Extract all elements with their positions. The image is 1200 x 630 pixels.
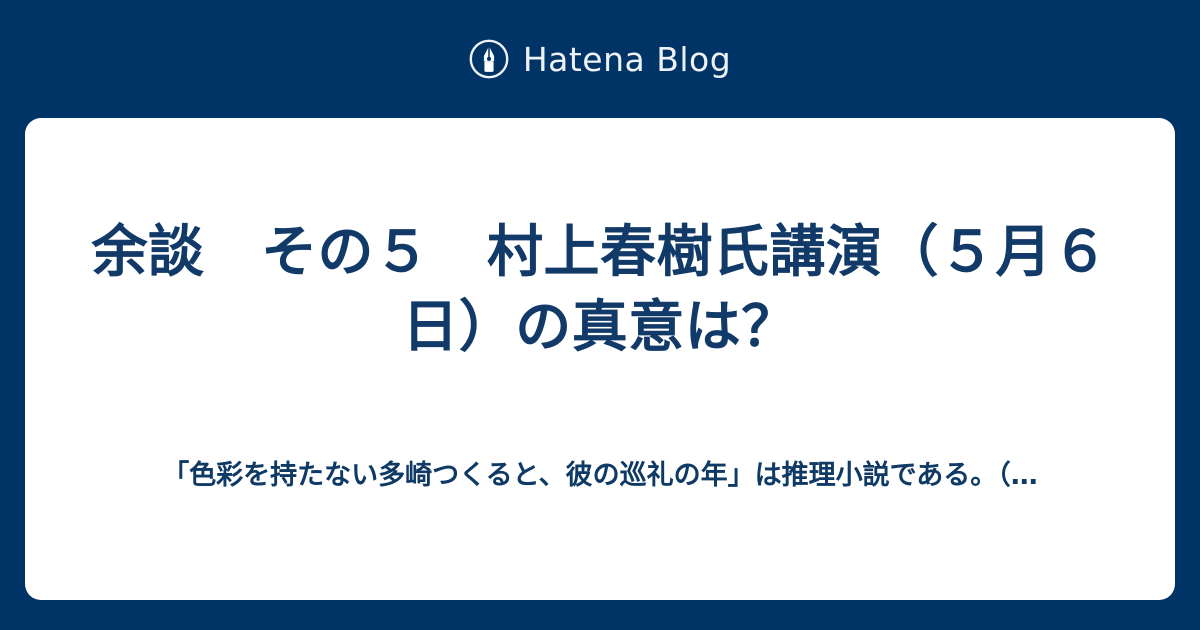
entry-card: 余談 その５ 村上春樹氏講演（５月６日）の真意は？ 「色彩を持たない多崎つくると… [25,118,1175,600]
hatena-pen-nib-icon [469,39,509,79]
ogp-share-card: Hatena Blog 余談 その５ 村上春樹氏講演（５月６日）の真意は？ 「色… [0,0,1200,630]
brand-header: Hatena Blog [0,0,1200,118]
brand-name-label: Hatena Blog [523,43,731,76]
entry-title: 余談 その５ 村上春樹氏講演（５月６日）の真意は？ [81,215,1119,365]
entry-summary: 「色彩を持たない多崎つくると、彼の巡礼の年」は推理小説である。（… [81,457,1119,495]
